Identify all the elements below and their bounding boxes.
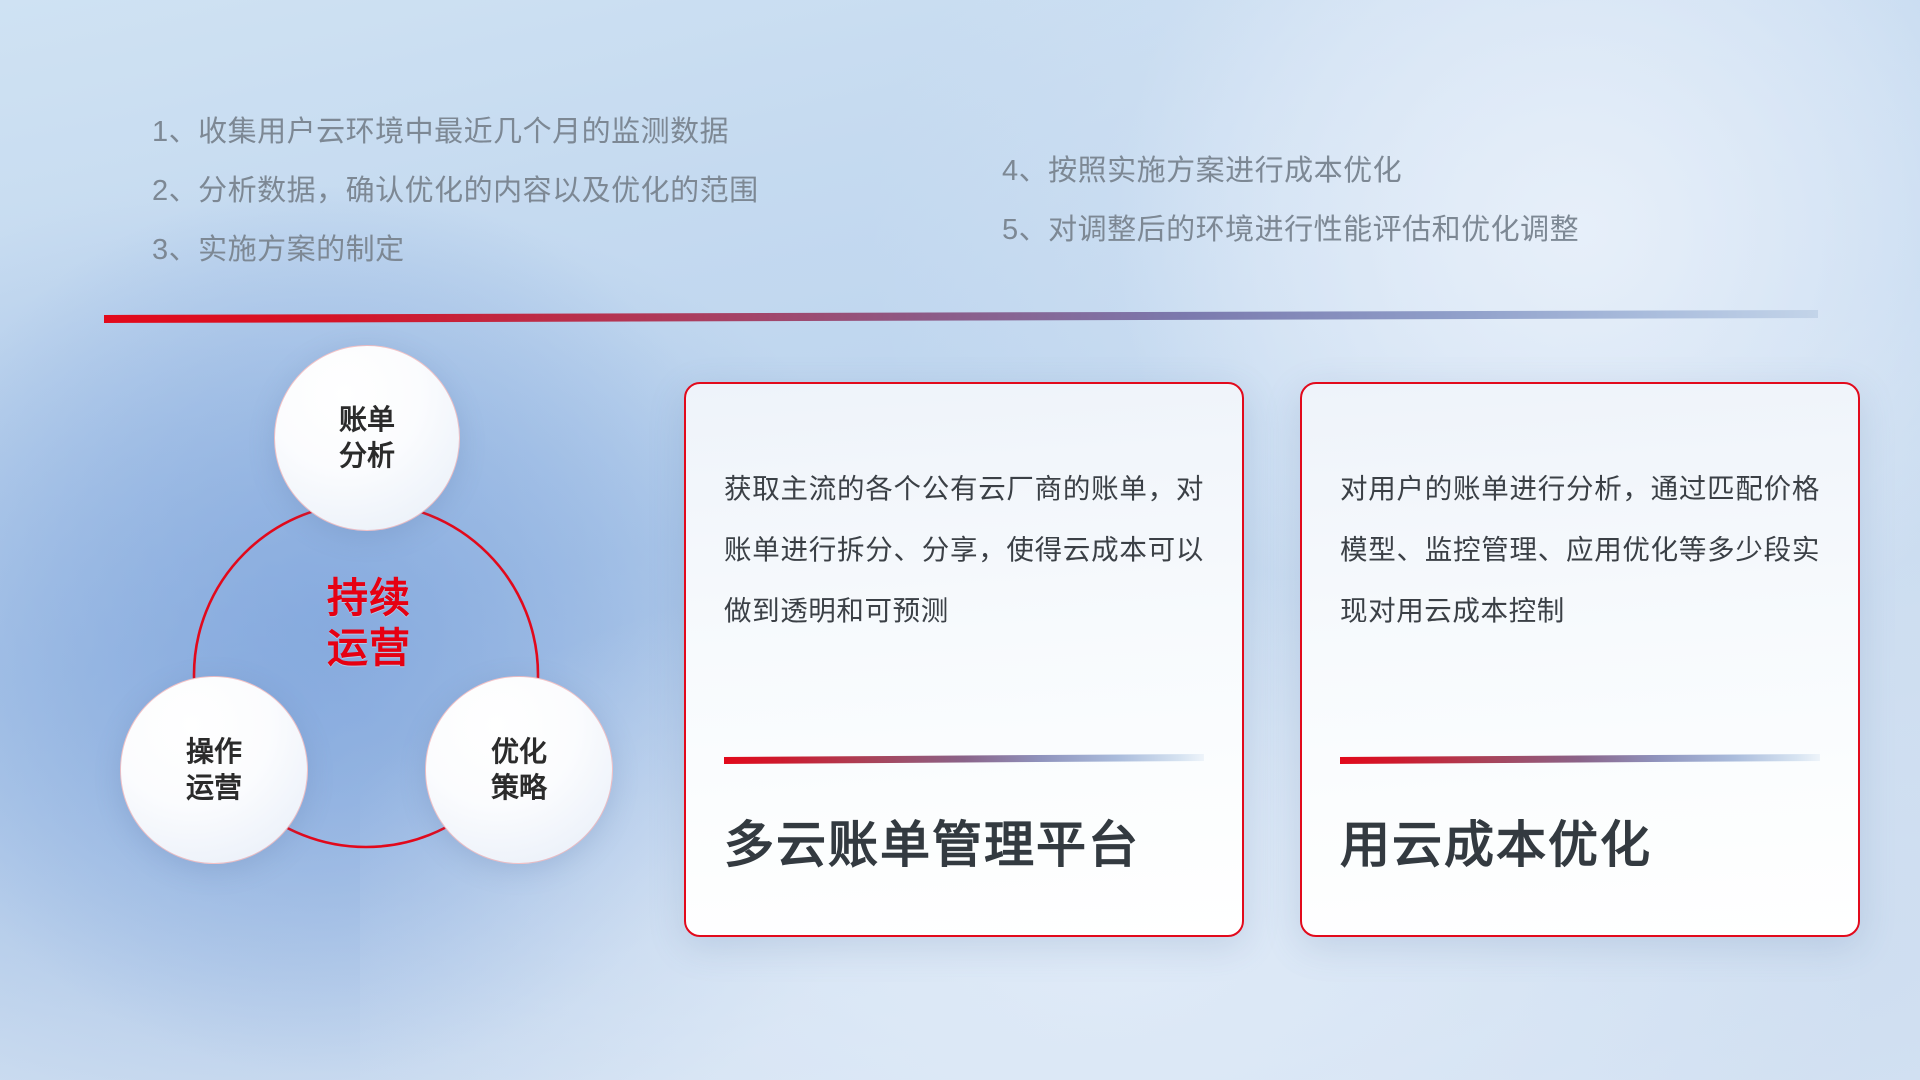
- diagram-node-bill-analysis[interactable]: 账单 分析: [274, 345, 460, 531]
- steps-left-column: 1、收集用户云环境中最近几个月的监测数据 2、分析数据，确认优化的内容以及优化的…: [152, 118, 759, 295]
- card-title: 用云成本优化: [1340, 764, 1820, 935]
- card-title: 多云账单管理平台: [724, 764, 1204, 935]
- card-divider: [724, 754, 1204, 764]
- feature-cards: 获取主流的各个公有云厂商的账单，对账单进行拆分、分享，使得云成本可以做到透明和可…: [684, 382, 1860, 937]
- diagram-center-label-line1: 持续: [274, 573, 464, 623]
- card-body-text: 对用户的账单进行分析，通过匹配价格模型、监控管理、应用优化等多少段实现对用云成本…: [1340, 458, 1820, 641]
- card-cloud-cost-optimization[interactable]: 对用户的账单进行分析，通过匹配价格模型、监控管理、应用优化等多少段实现对用云成本…: [1300, 382, 1860, 937]
- diagram-node-label-line2: 策略: [491, 770, 547, 806]
- card-multi-cloud-billing-platform[interactable]: 获取主流的各个公有云厂商的账单，对账单进行拆分、分享，使得云成本可以做到透明和可…: [684, 382, 1244, 937]
- section-divider: [104, 310, 1818, 323]
- card-divider: [1340, 754, 1820, 764]
- diagram-node-label-line1: 账单: [339, 402, 395, 438]
- step-item: 5、对调整后的环境进行性能评估和优化调整: [1002, 216, 1579, 245]
- steps-right-column: 4、按照实施方案进行成本优化 5、对调整后的环境进行性能评估和优化调整: [1002, 157, 1579, 275]
- step-item: 4、按照实施方案进行成本优化: [1002, 157, 1579, 186]
- diagram-node-label-line1: 操作: [186, 734, 242, 770]
- continuous-operations-diagram: 账单 分析 操作 运营 优化 策略 持续 运营: [96, 345, 636, 945]
- diagram-node-label-line2: 分析: [339, 438, 395, 474]
- slide-canvas: 1、收集用户云环境中最近几个月的监测数据 2、分析数据，确认优化的内容以及优化的…: [0, 0, 1920, 1080]
- diagram-center-label-line2: 运营: [274, 623, 464, 673]
- diagram-node-operations[interactable]: 操作 运营: [120, 676, 308, 864]
- card-body-text: 获取主流的各个公有云厂商的账单，对账单进行拆分、分享，使得云成本可以做到透明和可…: [724, 458, 1204, 641]
- diagram-node-optimization-strategy[interactable]: 优化 策略: [425, 676, 613, 864]
- step-item: 3、实施方案的制定: [152, 236, 759, 265]
- step-item: 1、收集用户云环境中最近几个月的监测数据: [152, 118, 759, 147]
- step-item: 2、分析数据，确认优化的内容以及优化的范围: [152, 177, 759, 206]
- diagram-node-label-line2: 运营: [186, 770, 242, 806]
- diagram-node-label-line1: 优化: [491, 734, 547, 770]
- steps-section: 1、收集用户云环境中最近几个月的监测数据 2、分析数据，确认优化的内容以及优化的…: [0, 0, 1920, 300]
- diagram-center-label: 持续 运营: [274, 573, 464, 673]
